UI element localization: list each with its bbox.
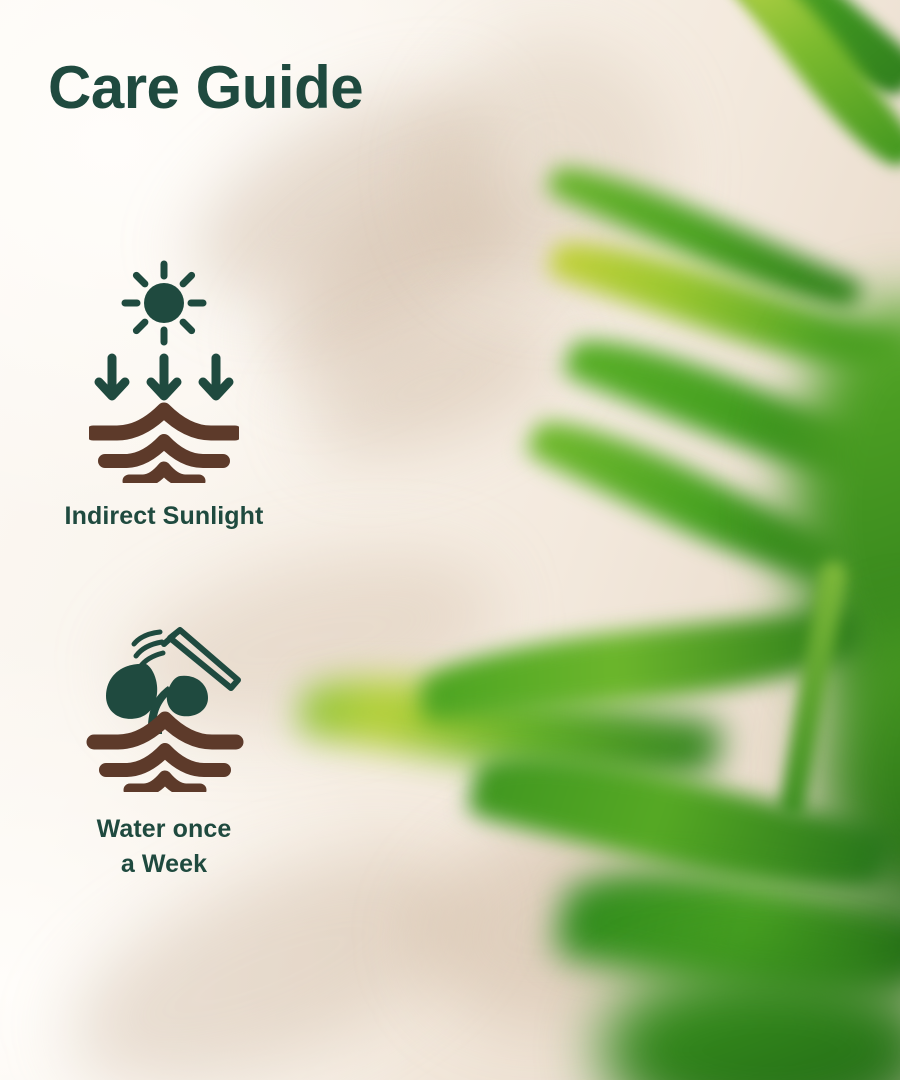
soil-waves-icon bbox=[93, 410, 235, 481]
sun-icon bbox=[125, 264, 203, 342]
page-title: Care Guide bbox=[48, 58, 363, 118]
care-item-indirect-sunlight: Indirect Sunlight bbox=[4, 258, 324, 534]
care-item-water-once-a-week: Water once a Week bbox=[4, 622, 324, 881]
down-arrow-icon bbox=[99, 358, 229, 396]
soil-waves-icon bbox=[94, 719, 236, 790]
care-guide-page: Care Guide bbox=[0, 0, 900, 1080]
sprayer-over-seedling-icon bbox=[84, 622, 244, 792]
care-item-label: Water once a Week bbox=[4, 812, 324, 881]
care-guide-content: Care Guide bbox=[0, 0, 900, 1080]
care-item-label: Indirect Sunlight bbox=[4, 499, 324, 534]
spray-lines-icon bbox=[134, 632, 163, 667]
sun-over-soil-icon bbox=[89, 258, 239, 483]
